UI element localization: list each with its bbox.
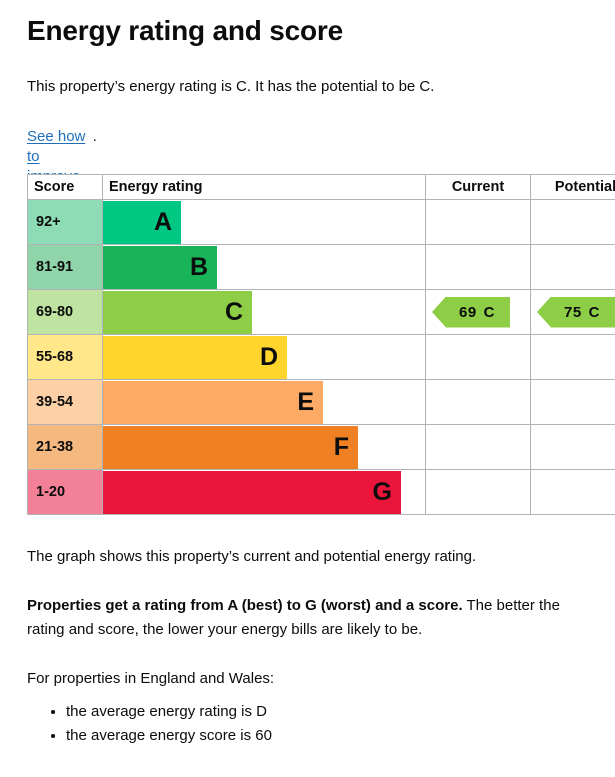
- region-facts-list: the average energy rating is Dthe averag…: [40, 700, 272, 748]
- band-row-d: 55-68D: [28, 335, 615, 380]
- rating-bar-cell-b: B: [103, 245, 426, 290]
- page-title: Energy rating and score: [27, 14, 343, 48]
- table-body: 92+A81-91B69-80C69C75C55-68D39-54E21-38F…: [28, 200, 615, 515]
- rating-letter-a: A: [154, 210, 172, 235]
- header-score: Score: [28, 175, 103, 200]
- region-intro: For properties in England and Wales:: [27, 668, 274, 690]
- potential-marker-band: C: [589, 304, 600, 321]
- current-cell-f: [426, 425, 531, 470]
- rating-bar-b: B: [103, 246, 217, 289]
- rating-bar-f: F: [103, 426, 358, 469]
- rating-bar-cell-a: A: [103, 200, 426, 245]
- current-marker-band: C: [484, 304, 495, 321]
- score-band-d: 55-68: [28, 335, 103, 380]
- score-band-e: 39-54: [28, 380, 103, 425]
- score-band-a: 92+: [28, 200, 103, 245]
- rating-letter-c: C: [225, 300, 243, 325]
- intro-text: This property’s energy rating is C. It h…: [27, 76, 434, 98]
- rating-bar-cell-d: D: [103, 335, 426, 380]
- header-current: Current: [426, 175, 531, 200]
- potential-cell-f: [531, 425, 615, 470]
- current-cell-a: [426, 200, 531, 245]
- current-cell-b: [426, 245, 531, 290]
- energy-rating-graph-table: Score Energy rating Current Potential 92…: [27, 174, 615, 515]
- potential-cell-b: [531, 245, 615, 290]
- current-cell-e: [426, 380, 531, 425]
- score-band-f: 21-38: [28, 425, 103, 470]
- potential-cell-e: [531, 380, 615, 425]
- rating-explainer-bold: Properties get a rating from A (best) to…: [27, 597, 463, 614]
- rating-letter-f: F: [334, 435, 349, 460]
- rating-letter-e: E: [297, 390, 314, 415]
- table-header-row: Score Energy rating Current Potential: [28, 175, 615, 200]
- rating-bar-a: A: [103, 201, 181, 244]
- score-band-g: 1-20: [28, 470, 103, 515]
- score-band-c: 69-80: [28, 290, 103, 335]
- band-row-a: 92+A: [28, 200, 615, 245]
- table-head: Score Energy rating Current Potential: [28, 175, 615, 200]
- rating-bar-e: E: [103, 381, 323, 424]
- rating-bar-cell-f: F: [103, 425, 426, 470]
- band-row-e: 39-54E: [28, 380, 615, 425]
- current-cell-c: 69C: [426, 290, 531, 335]
- potential-cell-d: [531, 335, 615, 380]
- potential-cell-a: [531, 200, 615, 245]
- rating-bar-c: C: [103, 291, 252, 334]
- rating-letter-b: B: [190, 255, 208, 280]
- header-energy-rating: Energy rating: [103, 175, 426, 200]
- region-fact-item: the average energy score is 60: [66, 724, 272, 748]
- band-row-b: 81-91B: [28, 245, 615, 290]
- rating-bar-g: G: [103, 471, 401, 514]
- rating-explainer: Properties get a rating from A (best) to…: [27, 594, 583, 642]
- score-band-b: 81-91: [28, 245, 103, 290]
- current-marker-score: 69: [459, 304, 477, 321]
- band-row-c: 69-80C69C75C: [28, 290, 615, 335]
- rating-letter-d: D: [260, 345, 278, 370]
- current-cell-d: [426, 335, 531, 380]
- band-row-f: 21-38F: [28, 425, 615, 470]
- rating-bar-cell-e: E: [103, 380, 426, 425]
- current-cell-g: [426, 470, 531, 515]
- potential-cell-g: [531, 470, 615, 515]
- rating-bar-d: D: [103, 336, 287, 379]
- improve-link-suffix: .: [93, 127, 97, 147]
- potential-cell-c: 75C: [531, 290, 615, 335]
- rating-bar-cell-c: C: [103, 290, 426, 335]
- rating-letter-g: G: [373, 480, 392, 505]
- potential-rating-marker: 75C: [537, 297, 615, 328]
- rating-bar-cell-g: G: [103, 470, 426, 515]
- current-rating-marker: 69C: [432, 297, 510, 328]
- header-potential: Potential: [531, 175, 615, 200]
- region-fact-item: the average energy rating is D: [66, 700, 272, 724]
- energy-rating-page: Energy rating and score This property’s …: [0, 0, 615, 777]
- graph-note: The graph shows this property’s current …: [27, 546, 476, 568]
- band-row-g: 1-20G: [28, 470, 615, 515]
- potential-marker-score: 75: [564, 304, 582, 321]
